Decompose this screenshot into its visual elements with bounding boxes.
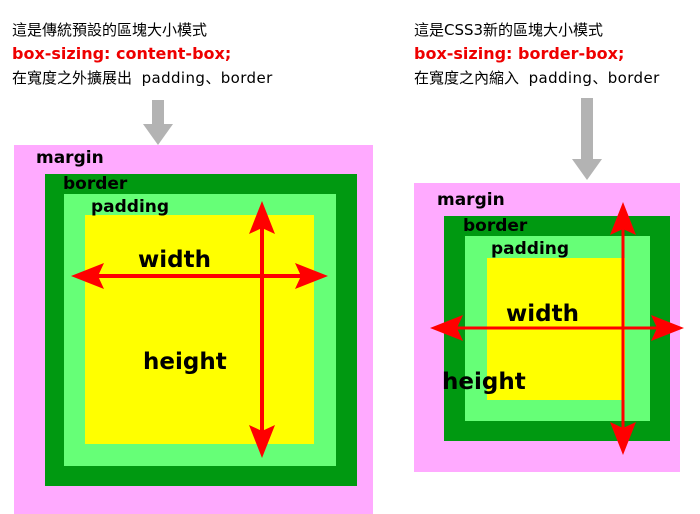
height-label: height: [143, 351, 227, 374]
right-caption-line-3-zh: 在寬度之內縮入: [414, 69, 519, 87]
arrow-down-icon: [569, 98, 605, 183]
right-caption-line-3-latin: padding、border: [529, 69, 660, 87]
height-label: height: [442, 371, 526, 394]
left-caption-block: 這是傳統預設的區塊大小模式 box-sizing: content-box; 在…: [12, 18, 273, 90]
measure-arrows: [414, 183, 680, 472]
width-label: width: [506, 303, 579, 326]
left-caption-line-3: 在寬度之外擴展出 padding、border: [12, 66, 273, 90]
arrow-down-shaft: [581, 98, 593, 161]
right-caption-code: box-sizing: border-box;: [414, 42, 660, 66]
border-box-diagram: margin border padding width height: [414, 183, 680, 472]
arrow-down-head: [143, 124, 173, 145]
arrow-down-shaft: [152, 100, 164, 126]
right-caption-block: 這是CSS3新的區塊大小模式 box-sizing: border-box; 在…: [414, 18, 660, 90]
content-box-diagram: margin border padding width height: [14, 145, 373, 514]
left-caption-code: box-sizing: content-box;: [12, 42, 273, 66]
left-caption-line-3-zh: 在寬度之外擴展出: [12, 69, 132, 87]
left-caption-line-3-latin: padding、border: [142, 69, 273, 87]
width-label: width: [138, 249, 211, 272]
right-caption-line-3: 在寬度之內縮入 padding、border: [414, 66, 660, 90]
arrow-down-icon: [140, 100, 176, 146]
right-caption-line-1: 這是CSS3新的區塊大小模式: [414, 18, 660, 42]
measure-arrows: [14, 145, 373, 514]
arrow-down-head: [572, 159, 602, 180]
left-caption-line-1: 這是傳統預設的區塊大小模式: [12, 18, 273, 42]
